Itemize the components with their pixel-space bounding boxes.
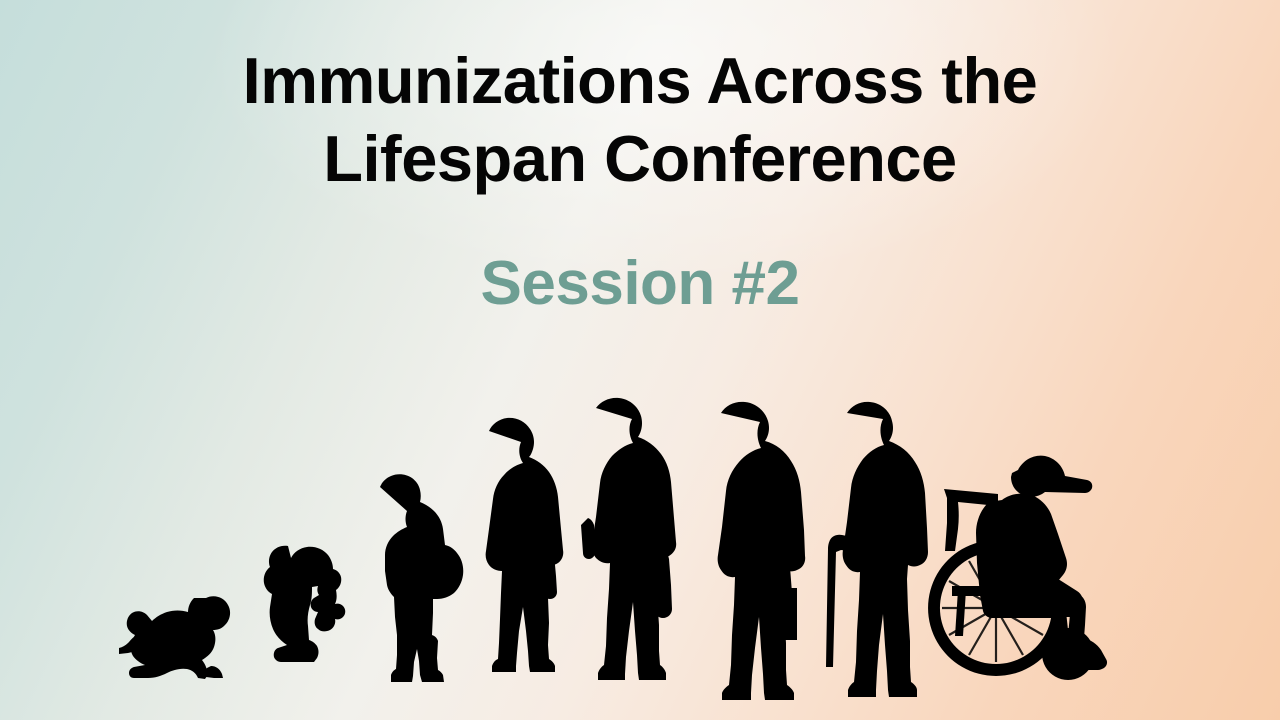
elder-in-wheelchair-icon: [928, 456, 1107, 680]
toddler-kneeling-icon: [264, 546, 346, 662]
presentation-slide: Immunizations Across the Lifespan Confer…: [0, 0, 1280, 720]
infant-crawling-icon: [119, 596, 230, 679]
slide-title: Immunizations Across the Lifespan Confer…: [0, 42, 1280, 198]
subtitle-text: Session #2: [0, 247, 1280, 321]
slide-subtitle: Session #2: [0, 247, 1280, 321]
teenager-standing-icon: [486, 418, 564, 672]
title-line-2: Lifespan Conference: [0, 120, 1280, 198]
older-adult-with-cane-icon: [826, 402, 928, 697]
adult-with-briefcase-icon: [718, 402, 806, 700]
child-with-backpack-icon: [380, 474, 463, 682]
title-line-1: Immunizations Across the: [0, 42, 1280, 120]
young-adult-standing-icon: [581, 398, 676, 680]
